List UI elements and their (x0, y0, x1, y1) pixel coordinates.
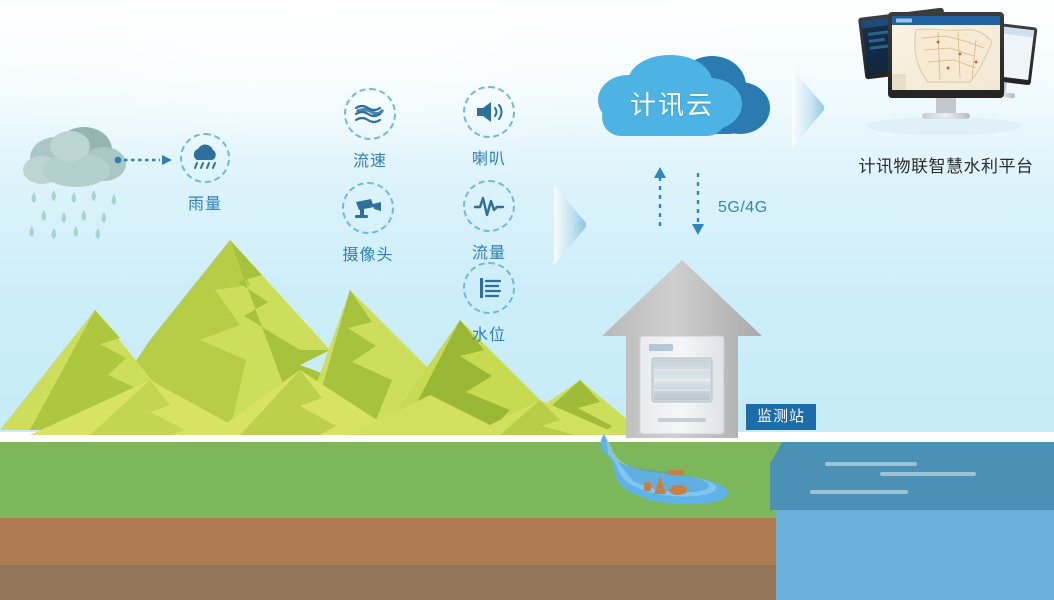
wave-line (825, 462, 917, 466)
desktop-monitors-icon (842, 6, 1046, 146)
sensor-speaker[interactable]: 喇叭 (441, 86, 537, 169)
sensor-camera-label: 摄像头 (320, 241, 416, 265)
status-badge: 监测站 (746, 404, 816, 430)
monitoring-station[interactable] (600, 258, 764, 438)
water-waves-icon (344, 88, 396, 140)
sensor-flowrate-label: 流量 (441, 239, 537, 263)
sensor-speaker-label: 喇叭 (441, 145, 537, 169)
pulse-waveform-icon (463, 180, 515, 232)
scene-root: 雨量 流速 摄像头 (0, 0, 1054, 600)
sensor-velocity-label: 流速 (322, 147, 418, 171)
water-deep (776, 510, 1054, 600)
wave-line (880, 472, 976, 476)
network-label: 5G/4G (718, 199, 768, 217)
reservoir-water (770, 432, 1054, 600)
wave-line (810, 490, 908, 494)
sensor-rainfall-label: 雨量 (157, 190, 253, 214)
rain-cloud-illustration (18, 120, 138, 250)
river-stream (560, 432, 800, 522)
platform-label: 计讯物联智慧水利平台 (826, 152, 1054, 177)
sensor-camera[interactable]: 摄像头 (320, 182, 416, 265)
sensor-waterlevel-label: 水位 (441, 321, 537, 345)
cloud-label: 计讯云 (592, 85, 752, 122)
camera-icon (342, 182, 394, 234)
chevron-right-arrow-icon (790, 68, 830, 153)
chevron-right-arrow-icon (552, 185, 592, 270)
sensor-velocity[interactable]: 流速 (322, 88, 418, 171)
sensor-waterlevel[interactable]: 水位 (441, 262, 537, 345)
water-level-ruler-icon (463, 262, 515, 314)
water-surface (770, 442, 1054, 510)
speaker-icon (463, 86, 515, 138)
sensor-flowrate[interactable]: 流量 (441, 180, 537, 263)
sensor-rainfall[interactable]: 雨量 (157, 133, 253, 214)
rain-cloud-icon (180, 133, 230, 183)
